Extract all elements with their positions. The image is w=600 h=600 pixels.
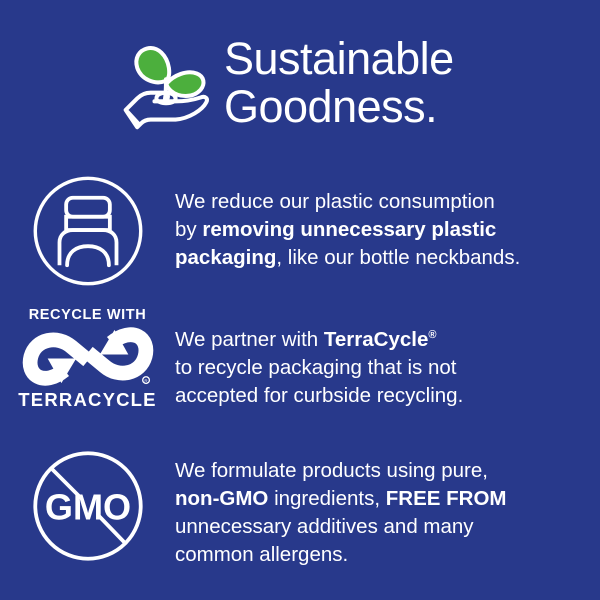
text-line: accepted for curbside recycling. — [175, 382, 582, 410]
terracycle-logo-top-text: RECYCLE WITH — [29, 307, 147, 323]
text-line: by removing unnecessary plastic — [175, 216, 582, 244]
text-line: non-GMO ingredients, FREE FROM — [175, 485, 582, 513]
text-line: We formulate products using pure, — [175, 457, 582, 485]
header: Sustainable Goodness. — [0, 24, 600, 142]
feature-row-gmo: GMO We formulate products using pure,non… — [0, 445, 600, 569]
terracycle-logo-icon: RECYCLE WITH R — [0, 305, 175, 410]
terracycle-infinity-arrows-icon: R — [24, 326, 152, 387]
title-line-2: Goodness. — [224, 81, 437, 132]
text-line: We reduce our plastic consumption — [175, 188, 582, 216]
gmo-label: GMO — [44, 486, 130, 527]
text-line: common allergens. — [175, 541, 582, 569]
no-gmo-circle-icon: GMO — [0, 445, 175, 563]
sustainable-goodness-infographic: Sustainable Goodness. We reduce our plas… — [0, 0, 600, 600]
title-line-1: Sustainable — [224, 33, 454, 84]
plastic-bottle-circle-icon — [0, 170, 175, 288]
text-line: packaging, like our bottle neckbands. — [175, 244, 582, 272]
page-title: Sustainable Goodness. — [224, 35, 600, 131]
text-line: unnecessary additives and many — [175, 513, 582, 541]
terracycle-logo-bottom-text: TERRACYCLE — [18, 390, 156, 410]
feature-text-plastic: We reduce our plastic consumptionby remo… — [175, 170, 600, 272]
feature-row-terracycle: RECYCLE WITH R — [0, 305, 600, 410]
feature-row-plastic: We reduce our plastic consumptionby remo… — [0, 170, 600, 288]
feature-text-gmo: We formulate products using pure,non-GMO… — [175, 445, 600, 569]
text-line: to recycle packaging that is not — [175, 354, 582, 382]
feature-text-terracycle: We partner with TerraCycle®to recycle pa… — [175, 305, 600, 410]
hand-holding-sprout-icon — [118, 37, 214, 133]
text-line: We partner with TerraCycle® — [175, 321, 582, 354]
